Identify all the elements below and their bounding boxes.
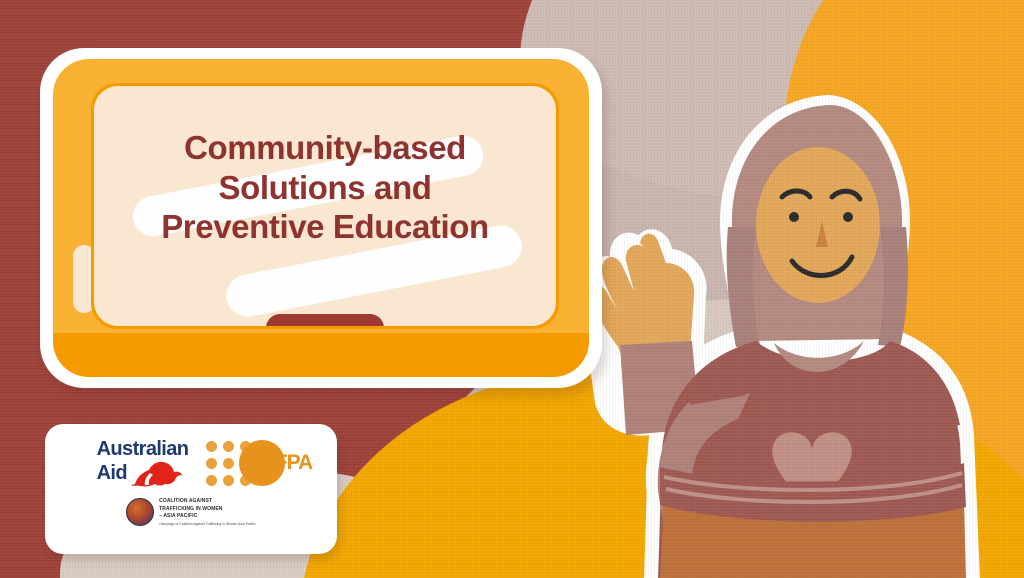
unfpa-dot	[206, 475, 217, 486]
title-line-3: Preventive Education	[94, 207, 556, 247]
tablet-frame-bottom-bezel	[53, 333, 589, 377]
catw-line2: TRAFFICKING IN WOMEN	[159, 506, 256, 514]
catw-logo: COALITION AGAINST TRAFFICKING IN WOMEN –…	[45, 498, 337, 526]
catw-text-block: COALITION AGAINST TRAFFICKING IN WOMEN –…	[159, 498, 256, 526]
unfpa-dot	[223, 475, 234, 486]
title-line-1: Community-based	[94, 128, 556, 168]
slide-title: Community-based Solutions and Preventive…	[94, 128, 556, 247]
kangaroo-icon	[131, 459, 183, 487]
face	[756, 147, 880, 303]
woman-illustration	[560, 95, 1024, 578]
australian-aid-line1: Australian	[97, 439, 189, 459]
tablet-device: Community-based Solutions and Preventive…	[40, 48, 602, 388]
catw-line3: – ASIA PACIFIC	[159, 513, 256, 521]
globe-icon	[126, 498, 154, 526]
catw-line1: COALITION AGAINST	[159, 498, 256, 506]
title-line-2: Solutions and	[94, 168, 556, 208]
unfpa-dot	[223, 458, 234, 469]
unfpa-wordmark: UNFPA	[246, 451, 312, 475]
play-button[interactable]	[266, 314, 384, 326]
tablet-screen-bezel: Community-based Solutions and Preventive…	[91, 83, 559, 329]
tablet-screen: Community-based Solutions and Preventive…	[94, 86, 556, 326]
australian-aid-line2: Aid	[97, 463, 127, 483]
catw-tagline: Campaign of Coalition Against Traffickin…	[159, 522, 256, 526]
unfpa-dot	[206, 441, 217, 452]
tablet-frame: Community-based Solutions and Preventive…	[53, 59, 589, 377]
unfpa-dot	[223, 441, 234, 452]
unfpa-logo: UNFPA	[206, 440, 285, 486]
logo-row-primary: Australian Aid	[45, 434, 337, 492]
eye-left	[789, 212, 799, 222]
australian-aid-logo: Australian Aid	[97, 439, 189, 487]
unfpa-dot	[206, 458, 217, 469]
eye-right	[843, 212, 853, 222]
partner-logo-card: Australian Aid	[45, 424, 337, 554]
slide-canvas: Community-based Solutions and Preventive…	[0, 0, 1024, 578]
